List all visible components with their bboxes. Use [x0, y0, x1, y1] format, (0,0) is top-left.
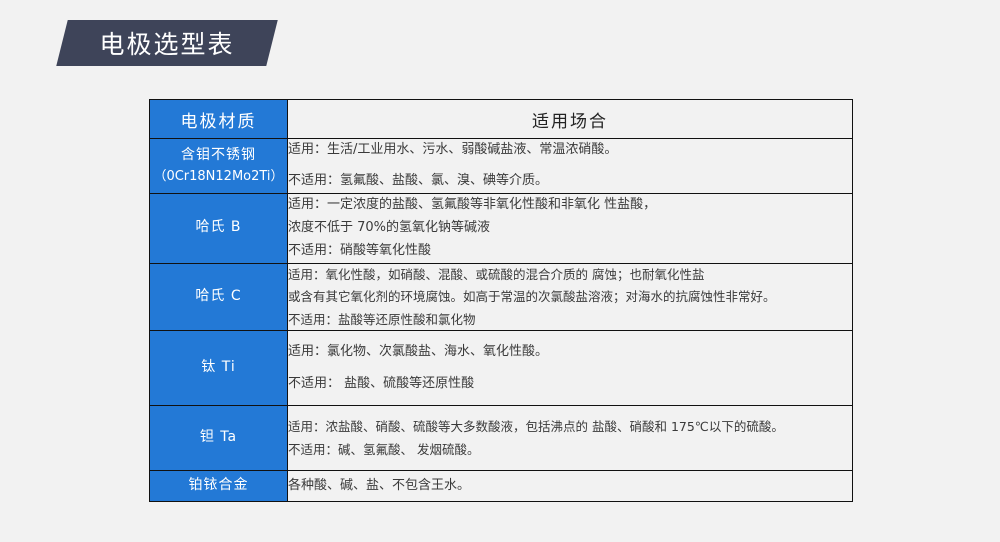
application-line: 适用：氧化性酸，如硝酸、混酸、或硫酸的混合介质的 腐蚀；也耐氧化性盐	[288, 264, 852, 286]
material-cell: 含钼不锈钢 （0Cr18N12Mo2Ti）	[150, 139, 288, 194]
material-cell: 钛 Ti	[150, 331, 288, 406]
application-cell: 适用：生活/工业用水、污水、弱酸碱盐液、常温浓硝酸。 不适用：氢氟酸、盐酸、氯、…	[288, 139, 853, 194]
application-line: 适用：浓盐酸、硝酸、硫酸等大多数酸液，包括沸点的 盐酸、硝酸和 175℃以下的硫…	[288, 416, 852, 438]
application-cell: 适用：一定浓度的盐酸、氢氟酸等非氧化性酸和非氧化 性盐酸， 浓度不低于 70%的…	[288, 193, 853, 263]
material-name-wrap: 含钼不锈钢 （0Cr18N12Mo2Ti）	[150, 141, 287, 191]
table-header-row: 电极材质 适用场合	[150, 100, 853, 139]
material-name-wrap: 哈氏 C	[150, 282, 287, 312]
application-cell: 适用：浓盐酸、硝酸、硫酸等大多数酸液，包括沸点的 盐酸、硝酸和 175℃以下的硫…	[288, 406, 853, 471]
application-line: 各种酸、碱、盐、不包含王水。	[288, 475, 852, 497]
material-code: （0Cr18N12Mo2Ti）	[152, 167, 285, 187]
material-name: 哈氏 C	[195, 288, 241, 304]
material-name: 铂铱合金	[189, 477, 249, 493]
application-line: 不适用： 盐酸、硫酸等还原性酸	[288, 373, 852, 395]
page-title-banner: 电极选型表	[62, 20, 272, 66]
table-row: 哈氏 C 适用：氧化性酸，如硝酸、混酸、或硫酸的混合介质的 腐蚀；也耐氧化性盐 …	[150, 263, 853, 331]
application-line: 适用：氯化物、次氯酸盐、海水、氧化性酸。	[288, 341, 852, 363]
application-line: 不适用：硝酸等氧化性酸	[288, 240, 852, 262]
application-cell: 适用：氯化物、次氯酸盐、海水、氧化性酸。 不适用： 盐酸、硫酸等还原性酸	[288, 331, 853, 406]
material-cell: 哈氏 B	[150, 193, 288, 263]
material-name: 哈氏 B	[195, 219, 241, 235]
material-cell: 哈氏 C	[150, 263, 288, 331]
material-name: 含钼不锈钢	[181, 147, 256, 163]
material-name: 钛 Ti	[201, 359, 235, 375]
table-row: 含钼不锈钢 （0Cr18N12Mo2Ti） 适用：生活/工业用水、污水、弱酸碱盐…	[150, 139, 853, 194]
material-name-wrap: 钽 Ta	[150, 423, 287, 453]
material-cell: 钽 Ta	[150, 406, 288, 471]
page-title: 电极选型表	[62, 20, 272, 66]
application-line: 不适用：氢氟酸、盐酸、氯、溴、碘等介质。	[288, 170, 852, 192]
material-cell: 铂铱合金	[150, 471, 288, 502]
column-header-material: 电极材质	[150, 100, 288, 139]
application-line: 浓度不低于 70%的氢氧化钠等碱液	[288, 217, 852, 239]
application-line: 不适用：碱、氢氟酸、 发烟硫酸。	[288, 439, 852, 461]
material-name-wrap: 钛 Ti	[150, 353, 287, 383]
table-row: 铂铱合金 各种酸、碱、盐、不包含王水。	[150, 471, 853, 502]
material-name-wrap: 哈氏 B	[150, 213, 287, 243]
application-cell: 适用：氧化性酸，如硝酸、混酸、或硫酸的混合介质的 腐蚀；也耐氧化性盐 或含有其它…	[288, 263, 853, 331]
application-line: 不适用：盐酸等还原性酸和氯化物	[288, 309, 852, 331]
table-row: 钽 Ta 适用：浓盐酸、硝酸、硫酸等大多数酸液，包括沸点的 盐酸、硝酸和 175…	[150, 406, 853, 471]
electrode-selection-table-wrapper: 电极材质 适用场合 含钼不锈钢 （0Cr18N12Mo2Ti） 适用：生活/工业…	[149, 99, 852, 502]
material-name-wrap: 铂铱合金	[150, 471, 287, 501]
table-row: 哈氏 B 适用：一定浓度的盐酸、氢氟酸等非氧化性酸和非氧化 性盐酸， 浓度不低于…	[150, 193, 853, 263]
material-name: 钽 Ta	[200, 429, 237, 445]
application-line: 适用：一定浓度的盐酸、氢氟酸等非氧化性酸和非氧化 性盐酸，	[288, 194, 852, 216]
application-line: 适用：生活/工业用水、污水、弱酸碱盐液、常温浓硝酸。	[288, 139, 852, 161]
application-line: 或含有其它氧化剂的环境腐蚀。如高于常温的次氯酸盐溶液；对海水的抗腐蚀性非常好。	[288, 286, 852, 308]
application-cell: 各种酸、碱、盐、不包含王水。	[288, 471, 853, 502]
table-row: 钛 Ti 适用：氯化物、次氯酸盐、海水、氧化性酸。 不适用： 盐酸、硫酸等还原性…	[150, 331, 853, 406]
electrode-selection-table: 电极材质 适用场合 含钼不锈钢 （0Cr18N12Mo2Ti） 适用：生活/工业…	[149, 99, 853, 502]
column-header-application: 适用场合	[288, 100, 853, 139]
